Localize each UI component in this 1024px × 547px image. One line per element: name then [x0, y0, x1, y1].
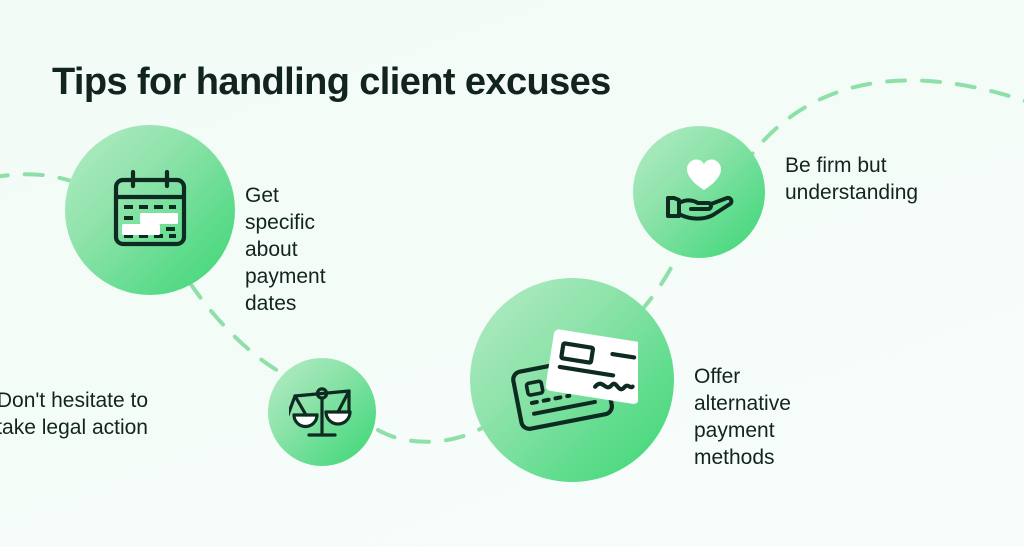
tip-label-get-specific: Get specific about payment dates — [245, 183, 326, 317]
scales-of-justice-icon — [289, 379, 355, 445]
tip-label-legal-action: Don't hesitate to take legal action — [0, 388, 148, 442]
tip-circle-legal-action — [268, 358, 376, 466]
calendar-icon — [104, 164, 196, 256]
infographic-canvas: Tips for handling client excuses — [0, 0, 1024, 547]
tip-label-alternative-payments: Offer alternative payment methods — [694, 364, 791, 472]
tip-circle-get-specific — [65, 125, 235, 295]
tip-circle-alternative-payments — [470, 278, 674, 482]
payment-cards-icon — [506, 320, 638, 440]
heart-in-hand-icon — [660, 154, 738, 230]
tip-label-be-firm: Be firm but understanding — [785, 153, 918, 207]
tip-circle-be-firm — [633, 126, 765, 258]
page-title: Tips for handling client excuses — [52, 61, 611, 104]
connector-segment-2-3 — [378, 428, 482, 442]
connector-segment-3-4 — [640, 258, 676, 312]
